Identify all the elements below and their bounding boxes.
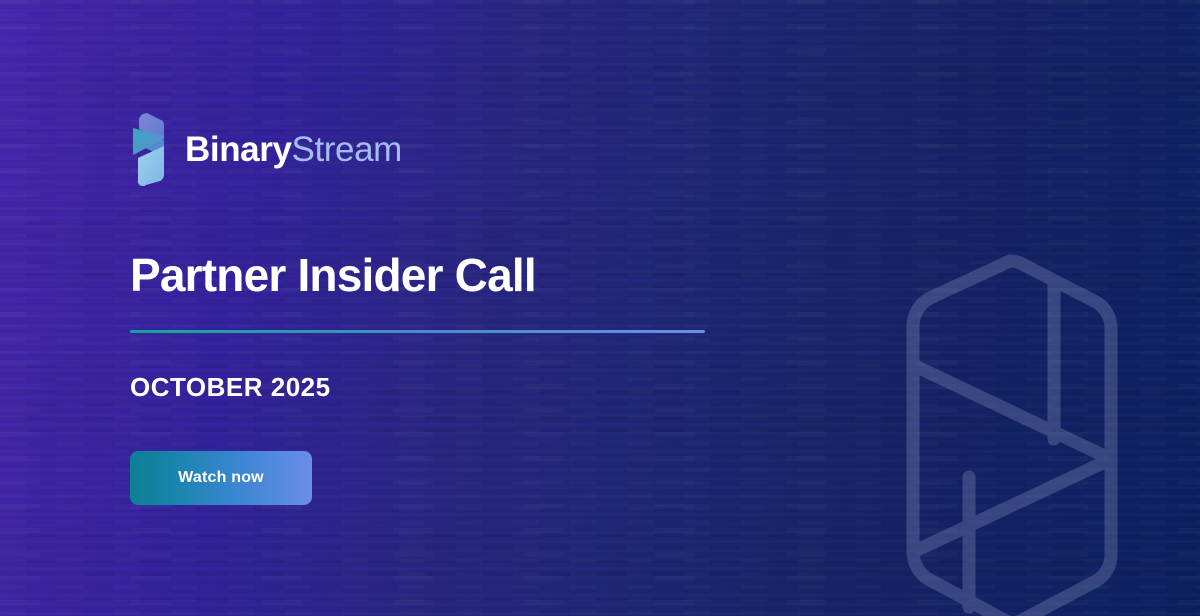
binarystream-ribbon-outline-watermark-icon: [906, 252, 1118, 616]
wordmark-primary: Binary: [185, 130, 292, 169]
brand-lockup: BinaryStream: [130, 112, 402, 186]
binarystream-logo-icon: [130, 112, 169, 186]
background-texture-lines: [0, 0, 1200, 616]
watch-now-button[interactable]: Watch now: [130, 451, 312, 505]
page-title: Partner Insider Call: [130, 249, 536, 302]
background-texture-blocks: [0, 0, 1200, 616]
gradient-divider: [130, 330, 705, 333]
brand-wordmark: BinaryStream: [185, 132, 402, 167]
promo-banner: BinaryStream Partner Insider Call OCTOBE…: [0, 0, 1200, 616]
background-texture-dashes: [0, 0, 1200, 616]
wordmark-secondary: Stream: [292, 130, 402, 169]
event-date: OCTOBER 2025: [130, 372, 331, 403]
